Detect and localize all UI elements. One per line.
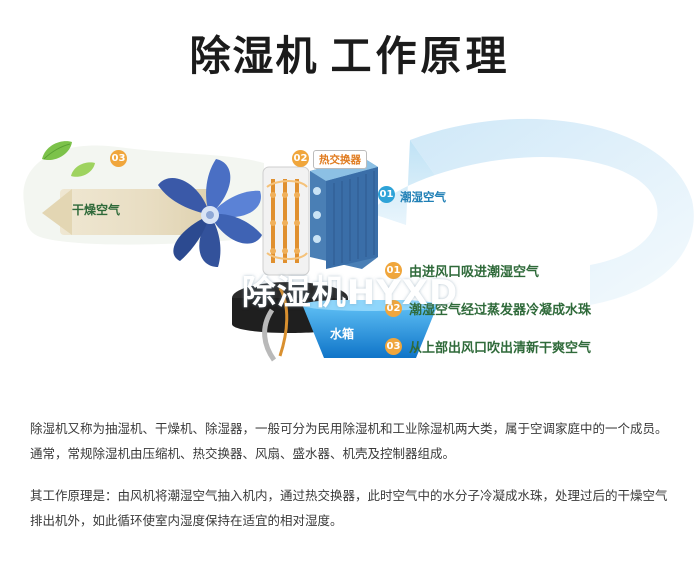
page-title: 除湿机工作原理	[0, 22, 700, 82]
marker-03-badge: 03	[110, 150, 127, 167]
description-paragraph-2: 其工作原理是：由风机将潮湿空气抽入机内，通过热交换器，此时空气中的水分子冷凝成水…	[30, 483, 680, 533]
heat-exchanger-icon	[300, 153, 384, 273]
dehumidifier-diagram: 干燥空气 03	[0, 105, 700, 395]
heat-exchanger-tag: 热交换器	[313, 150, 367, 169]
step-text: 从上部出风口吹出清新干爽空气	[409, 337, 591, 356]
dry-air-arrow-icon	[40, 187, 72, 237]
leaf-icon	[40, 139, 74, 163]
list-item: 02 潮湿空气经过蒸发器冷凝成水珠	[385, 298, 685, 328]
title-part-1: 除湿机	[190, 32, 319, 80]
marker-01-badge: 01	[378, 186, 395, 203]
step-number: 02	[385, 300, 402, 317]
step-text: 潮湿空气经过蒸发器冷凝成水珠	[409, 299, 591, 318]
paragraph-line: 通常，常规除湿机由压缩机、热交换器、风扇、盛水器、机壳及控制器组成。	[30, 441, 680, 466]
paragraph-line: 其工作原理是：由风机将潮湿空气抽入机内，通过热交换器，此时空气中的水分子冷凝成水…	[30, 483, 680, 508]
step-text: 由进风口吸进潮湿空气	[409, 261, 539, 280]
marker-02-badge: 02	[292, 150, 309, 167]
fan-icon	[150, 155, 270, 275]
list-item: 03 从上部出风口吹出清新干爽空气	[385, 336, 685, 366]
list-item: 01 由进风口吸进潮湿空气	[385, 260, 685, 290]
leaf-icon	[70, 161, 96, 179]
title-part-2: 工作原理	[331, 32, 511, 80]
paragraph-line: 排出机外，如此循环使室内湿度保持在适宜的相对湿度。	[30, 508, 680, 533]
water-tank-label: 水箱	[330, 325, 354, 342]
dry-air-label: 干燥空气	[72, 201, 120, 218]
humid-air-label: 潮湿空气	[400, 189, 446, 205]
step-number: 01	[385, 262, 402, 279]
description-paragraph-1: 除湿机又称为抽湿机、干燥机、除湿器，一般可分为民用除湿机和工业除湿机两大类，属于…	[30, 416, 680, 466]
poster-root: 除湿机工作原理	[0, 0, 700, 566]
paragraph-line: 除湿机又称为抽湿机、干燥机、除湿器，一般可分为民用除湿机和工业除湿机两大类，属于…	[30, 416, 680, 441]
step-number: 03	[385, 338, 402, 355]
step-list: 01 由进风口吸进潮湿空气 02 潮湿空气经过蒸发器冷凝成水珠 03 从上部出风…	[385, 260, 685, 374]
